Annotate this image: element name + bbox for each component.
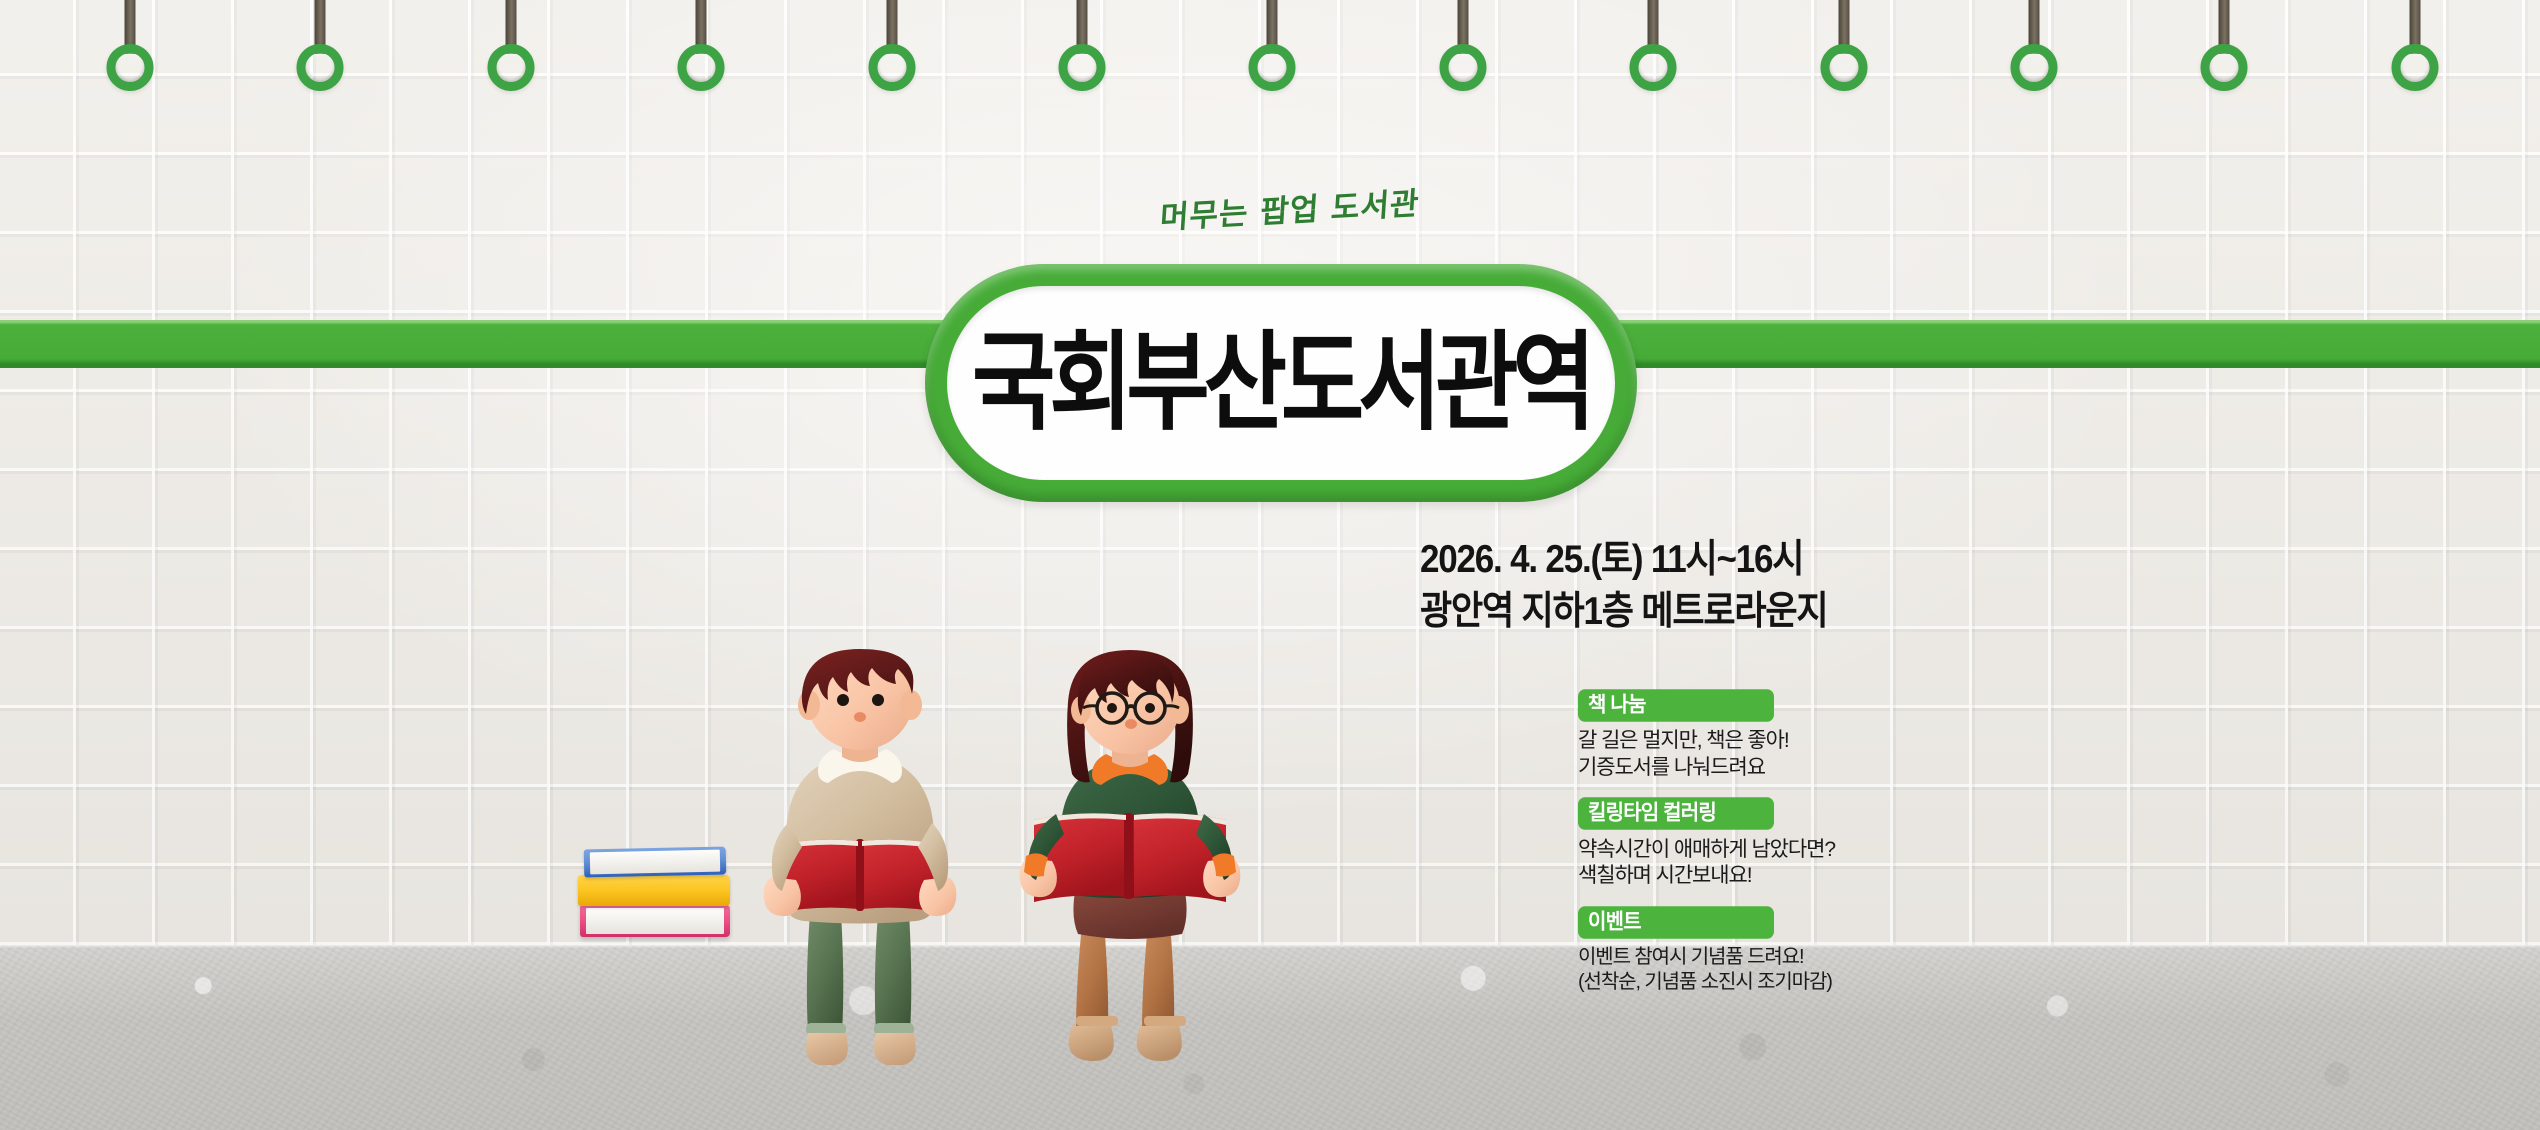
handle-ring-icon [297, 44, 344, 91]
station-sign-plate: 국회부산도서관역 [925, 264, 1637, 502]
program-item-book-sharing: 책 나눔 갈 길은 멀지만, 책은 좋아! 기증도서를 나눠드려요 [1578, 690, 1978, 781]
station-name-title: 국회부산도서관역 [972, 329, 1590, 436]
handle-ring-icon [1820, 44, 1867, 91]
program-item-event: 이벤트 이벤트 참여시 기념품 드려요! (선착순, 기념품 소진시 조기마감) [1578, 907, 1978, 996]
book-pages [590, 850, 720, 875]
handle-ring-icon [1630, 44, 1677, 91]
event-info-block: 2026. 4. 25.(토) 11시~16시 광안역 지하1층 메트로라운지 [1420, 535, 1827, 639]
program-list: 책 나눔 갈 길은 멀지만, 책은 좋아! 기증도서를 나눠드려요 킬링타임 컬… [1578, 690, 1978, 995]
book-pages [586, 908, 724, 934]
event-venue: 광안역 지하1층 메트로라운지 [1420, 587, 1827, 637]
pink-book [580, 905, 730, 937]
program-description: 갈 길은 멀지만, 책은 좋아! 기증도서를 나눠드려요 [1578, 728, 1978, 781]
boy-figure-svg [730, 645, 990, 1065]
program-badge: 이벤트 [1578, 906, 1774, 939]
program-description: 이벤트 참여시 기념품 드려요! (선착순, 기념품 소진시 조기마감) [1578, 945, 1978, 995]
program-description: 약속시간이 애매하게 남았다면? 색칠하며 시간보내요! [1578, 837, 1978, 890]
program-badge: 책 나눔 [1578, 689, 1774, 722]
girl-figure-svg [1000, 648, 1260, 1068]
blue-book [584, 847, 727, 878]
handle-ring-icon [2201, 44, 2248, 91]
yellow-book [578, 875, 730, 906]
station-sign-inner: 국회부산도서관역 [947, 286, 1615, 480]
handle-ring-row [0, 0, 2540, 130]
handle-ring-icon [868, 44, 915, 91]
handle-ring-icon [487, 44, 534, 91]
program-item-coloring: 킬링타임 컬러링 약속시간이 애매하게 남았다면? 색칠하며 시간보내요! [1578, 798, 1978, 889]
concrete-platform-floor [0, 945, 2540, 1130]
program-badge: 킬링타임 컬러링 [1578, 798, 1774, 831]
boy-reading-character [730, 645, 990, 1065]
floor-top-edge [0, 945, 2540, 948]
event-datetime: 2026. 4. 25.(토) 11시~16시 [1420, 535, 1827, 585]
handle-ring-icon [678, 44, 725, 91]
handle-ring-icon [2391, 44, 2438, 91]
handle-ring-icon [1059, 44, 1106, 91]
handle-ring-icon [1249, 44, 1296, 91]
girl-reading-character [1000, 648, 1260, 1068]
poster-canvas: 머무는 팝업 도서관 국회부산도서관역 2026. 4. 25.(토) 11시~… [0, 0, 2540, 1130]
handle-ring-icon [107, 44, 154, 91]
handle-ring-icon [2011, 44, 2058, 91]
handle-ring-icon [1439, 44, 1486, 91]
